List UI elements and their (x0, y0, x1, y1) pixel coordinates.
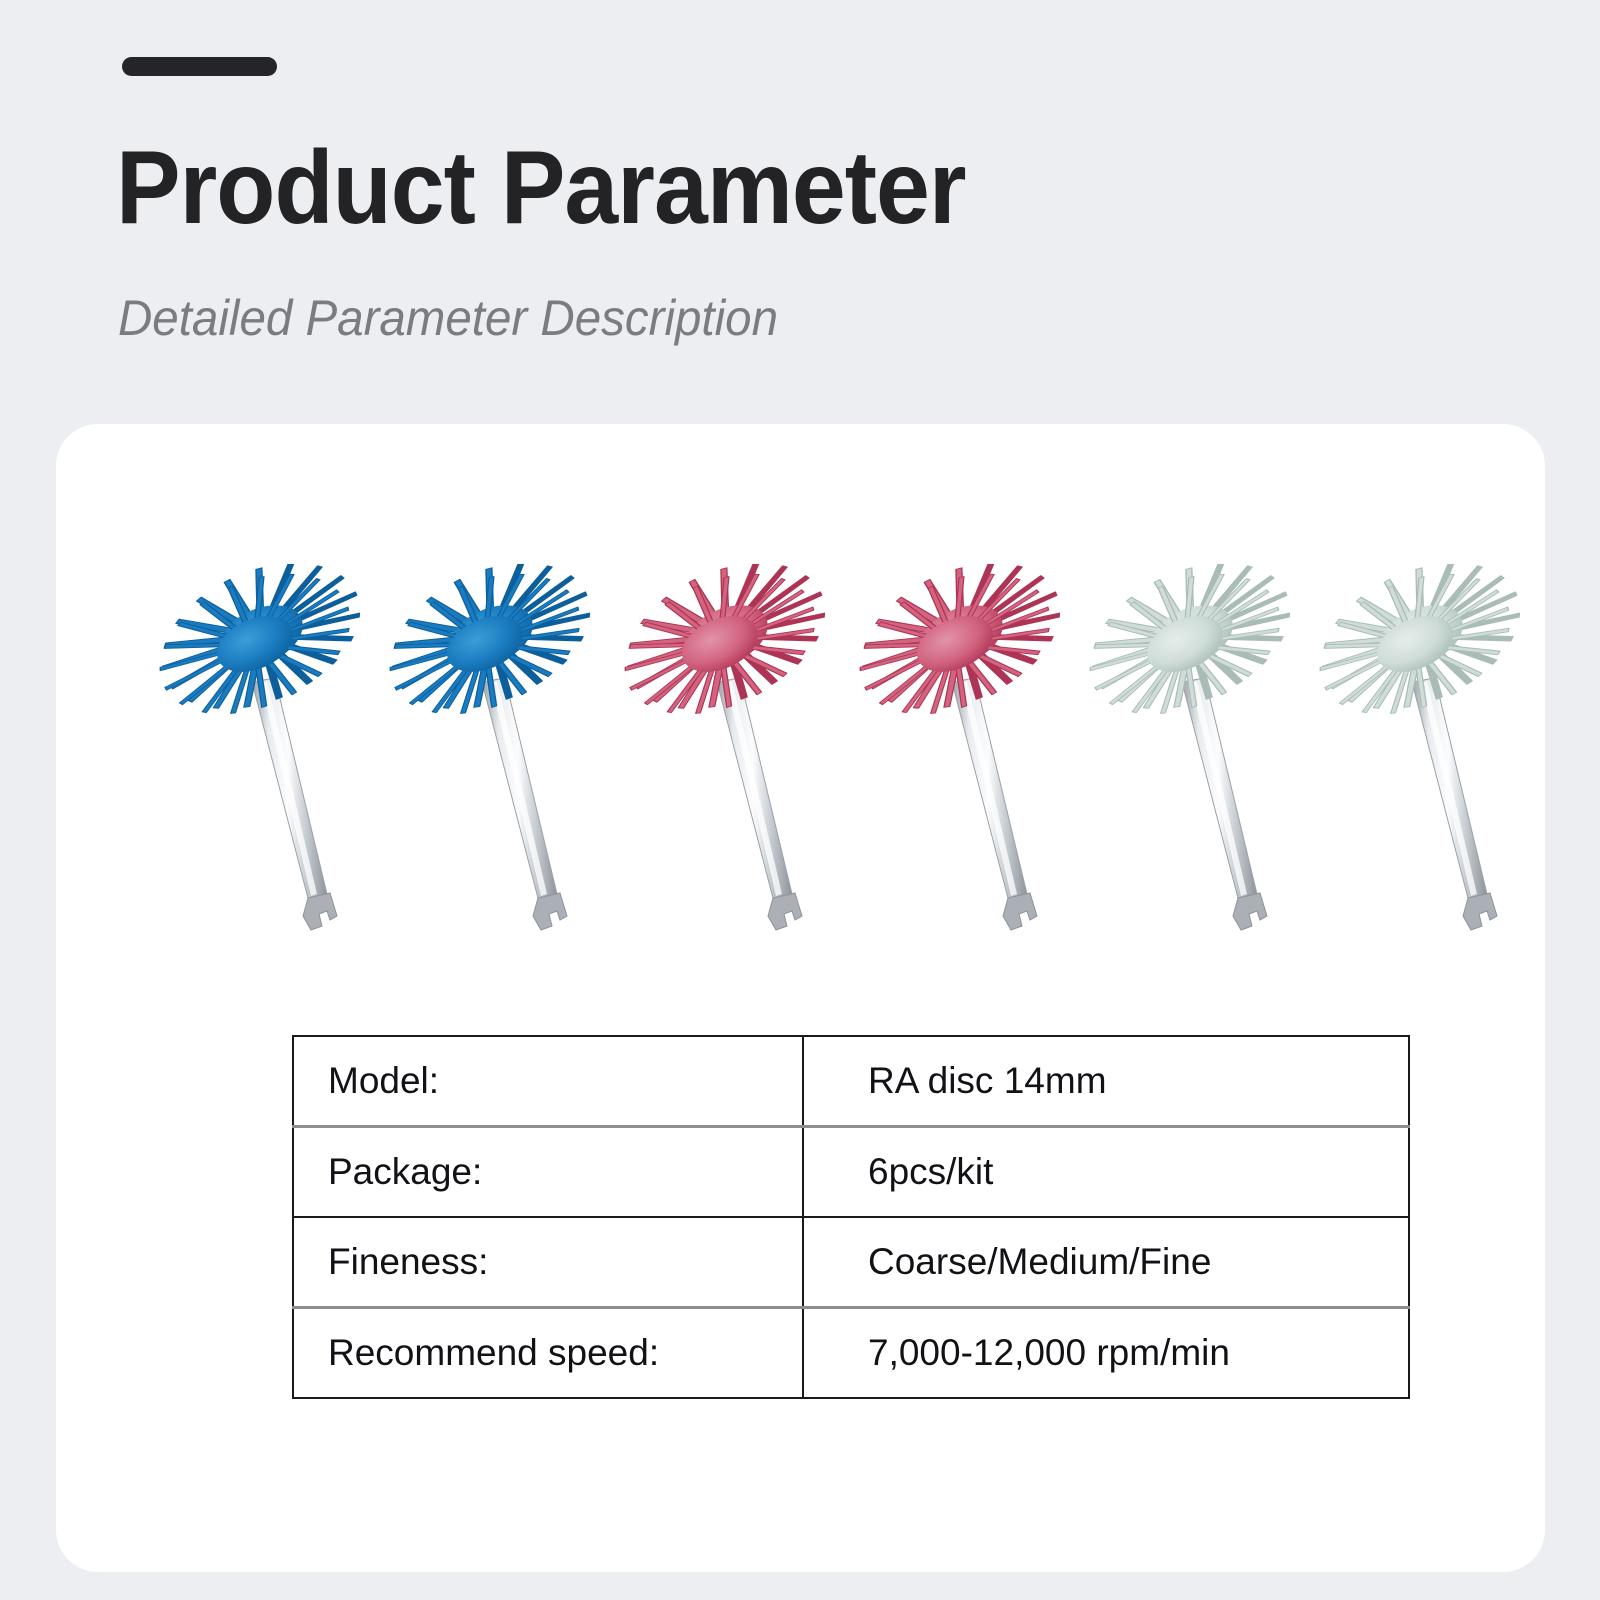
product-image-bur-blue-coarse-2 (381, 564, 631, 964)
table-row: Fineness:Coarse/Medium/Fine (293, 1217, 1409, 1308)
product-image-bur-blue-coarse-1 (151, 564, 401, 964)
bur-shank (252, 678, 337, 930)
product-image-bur-pink-medium-2 (851, 564, 1101, 964)
spec-value-cell: RA disc 14mm (803, 1036, 1409, 1127)
product-image-bur-pink-medium-1 (616, 564, 866, 964)
table-row: Recommend speed:7,000-12,000 rpm/min (293, 1308, 1409, 1399)
product-image-row (56, 564, 1545, 984)
product-image-bur-mint-fine-2 (1311, 564, 1561, 964)
product-parameter-table: Model:RA disc 14mmPackage:6pcs/kitFinene… (292, 1035, 1410, 1399)
product-image-bur-mint-fine-1 (1081, 564, 1331, 964)
bur-shank (1182, 678, 1267, 930)
bur-shank (1412, 678, 1497, 930)
spec-label-cell: Package: (293, 1127, 803, 1218)
spec-value-cell: Coarse/Medium/Fine (803, 1217, 1409, 1308)
bur-shank (717, 678, 802, 930)
spec-label-cell: Fineness: (293, 1217, 803, 1308)
content-card: Model:RA disc 14mmPackage:6pcs/kitFinene… (56, 424, 1545, 1572)
spec-value-cell: 6pcs/kit (803, 1127, 1409, 1218)
table-row: Model:RA disc 14mm (293, 1036, 1409, 1127)
bur-shank (482, 678, 567, 930)
table-row: Package:6pcs/kit (293, 1127, 1409, 1218)
page-title: Product Parameter (116, 136, 966, 240)
bur-shank (952, 678, 1037, 930)
page-subtitle: Detailed Parameter Description (118, 293, 778, 343)
spec-label-cell: Model: (293, 1036, 803, 1127)
spec-label-cell: Recommend speed: (293, 1308, 803, 1399)
spec-value-cell: 7,000-12,000 rpm/min (803, 1308, 1409, 1399)
accent-dash-icon (122, 57, 277, 76)
product-parameter-page: Product Parameter Detailed Parameter Des… (0, 0, 1600, 1600)
